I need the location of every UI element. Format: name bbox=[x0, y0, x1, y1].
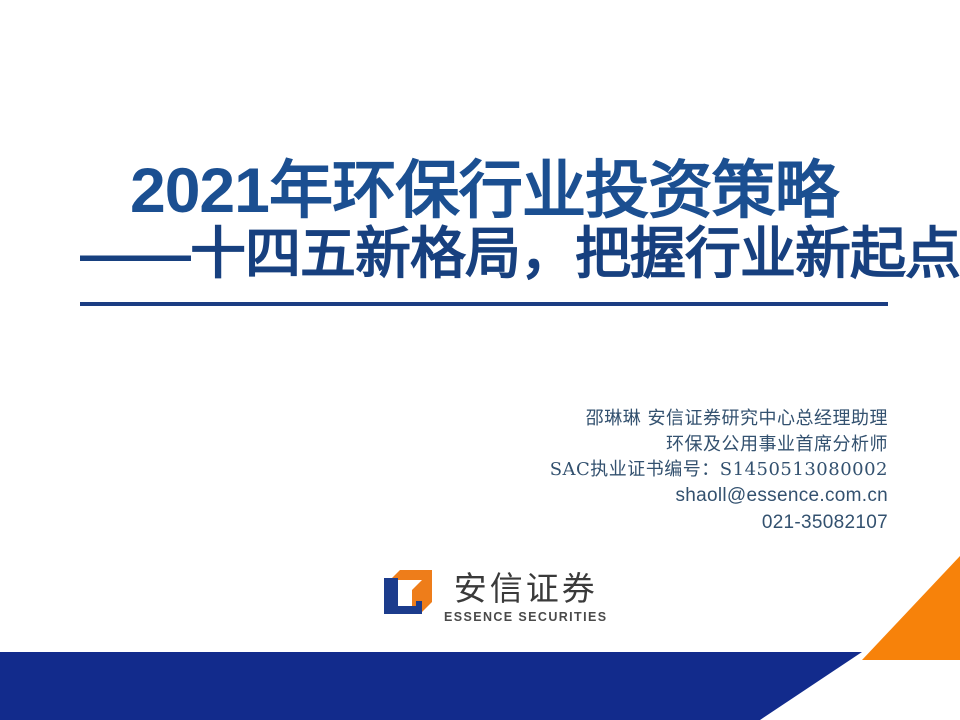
analyst-phone[interactable]: 021-35082107 bbox=[550, 510, 888, 537]
analyst-coverage-title: 环保及公用事业首席分析师 bbox=[550, 432, 888, 458]
page-title-line-2: ——十四五新格局，把握行业新起点 bbox=[80, 223, 888, 286]
blue-band-shape bbox=[0, 652, 862, 720]
orange-accent-triangle bbox=[862, 556, 960, 660]
title-block: 2021年环保行业投资策略 ——十四五新格局，把握行业新起点 bbox=[80, 160, 888, 306]
company-logo: 安信证券 ESSENCE SECURITIES bbox=[378, 568, 607, 624]
logo-text-chinese: 安信证券 bbox=[454, 572, 598, 607]
logo-text-english: ESSENCE SECURITIES bbox=[444, 610, 607, 624]
analyst-name-and-role: 邵琳琳 安信证券研究中心总经理助理 bbox=[550, 406, 888, 432]
presentation-title-slide: 2021年环保行业投资策略 ——十四五新格局，把握行业新起点 邵琳琳 安信证券研… bbox=[0, 0, 960, 720]
title-underline-rule bbox=[80, 302, 888, 306]
analyst-email[interactable]: shaoll@essence.com.cn bbox=[550, 483, 888, 510]
sac-license-number: SAC执业证书编号：S1450513080002 bbox=[550, 457, 888, 483]
essence-securities-logo-mark-icon bbox=[378, 568, 434, 624]
logo-wordmark: 安信证券 ESSENCE SECURITIES bbox=[444, 568, 607, 624]
page-title-line-1: 2021年环保行业投资策略 bbox=[72, 160, 896, 223]
author-contact-block: 邵琳琳 安信证券研究中心总经理助理 环保及公用事业首席分析师 SAC执业证书编号… bbox=[550, 406, 888, 537]
